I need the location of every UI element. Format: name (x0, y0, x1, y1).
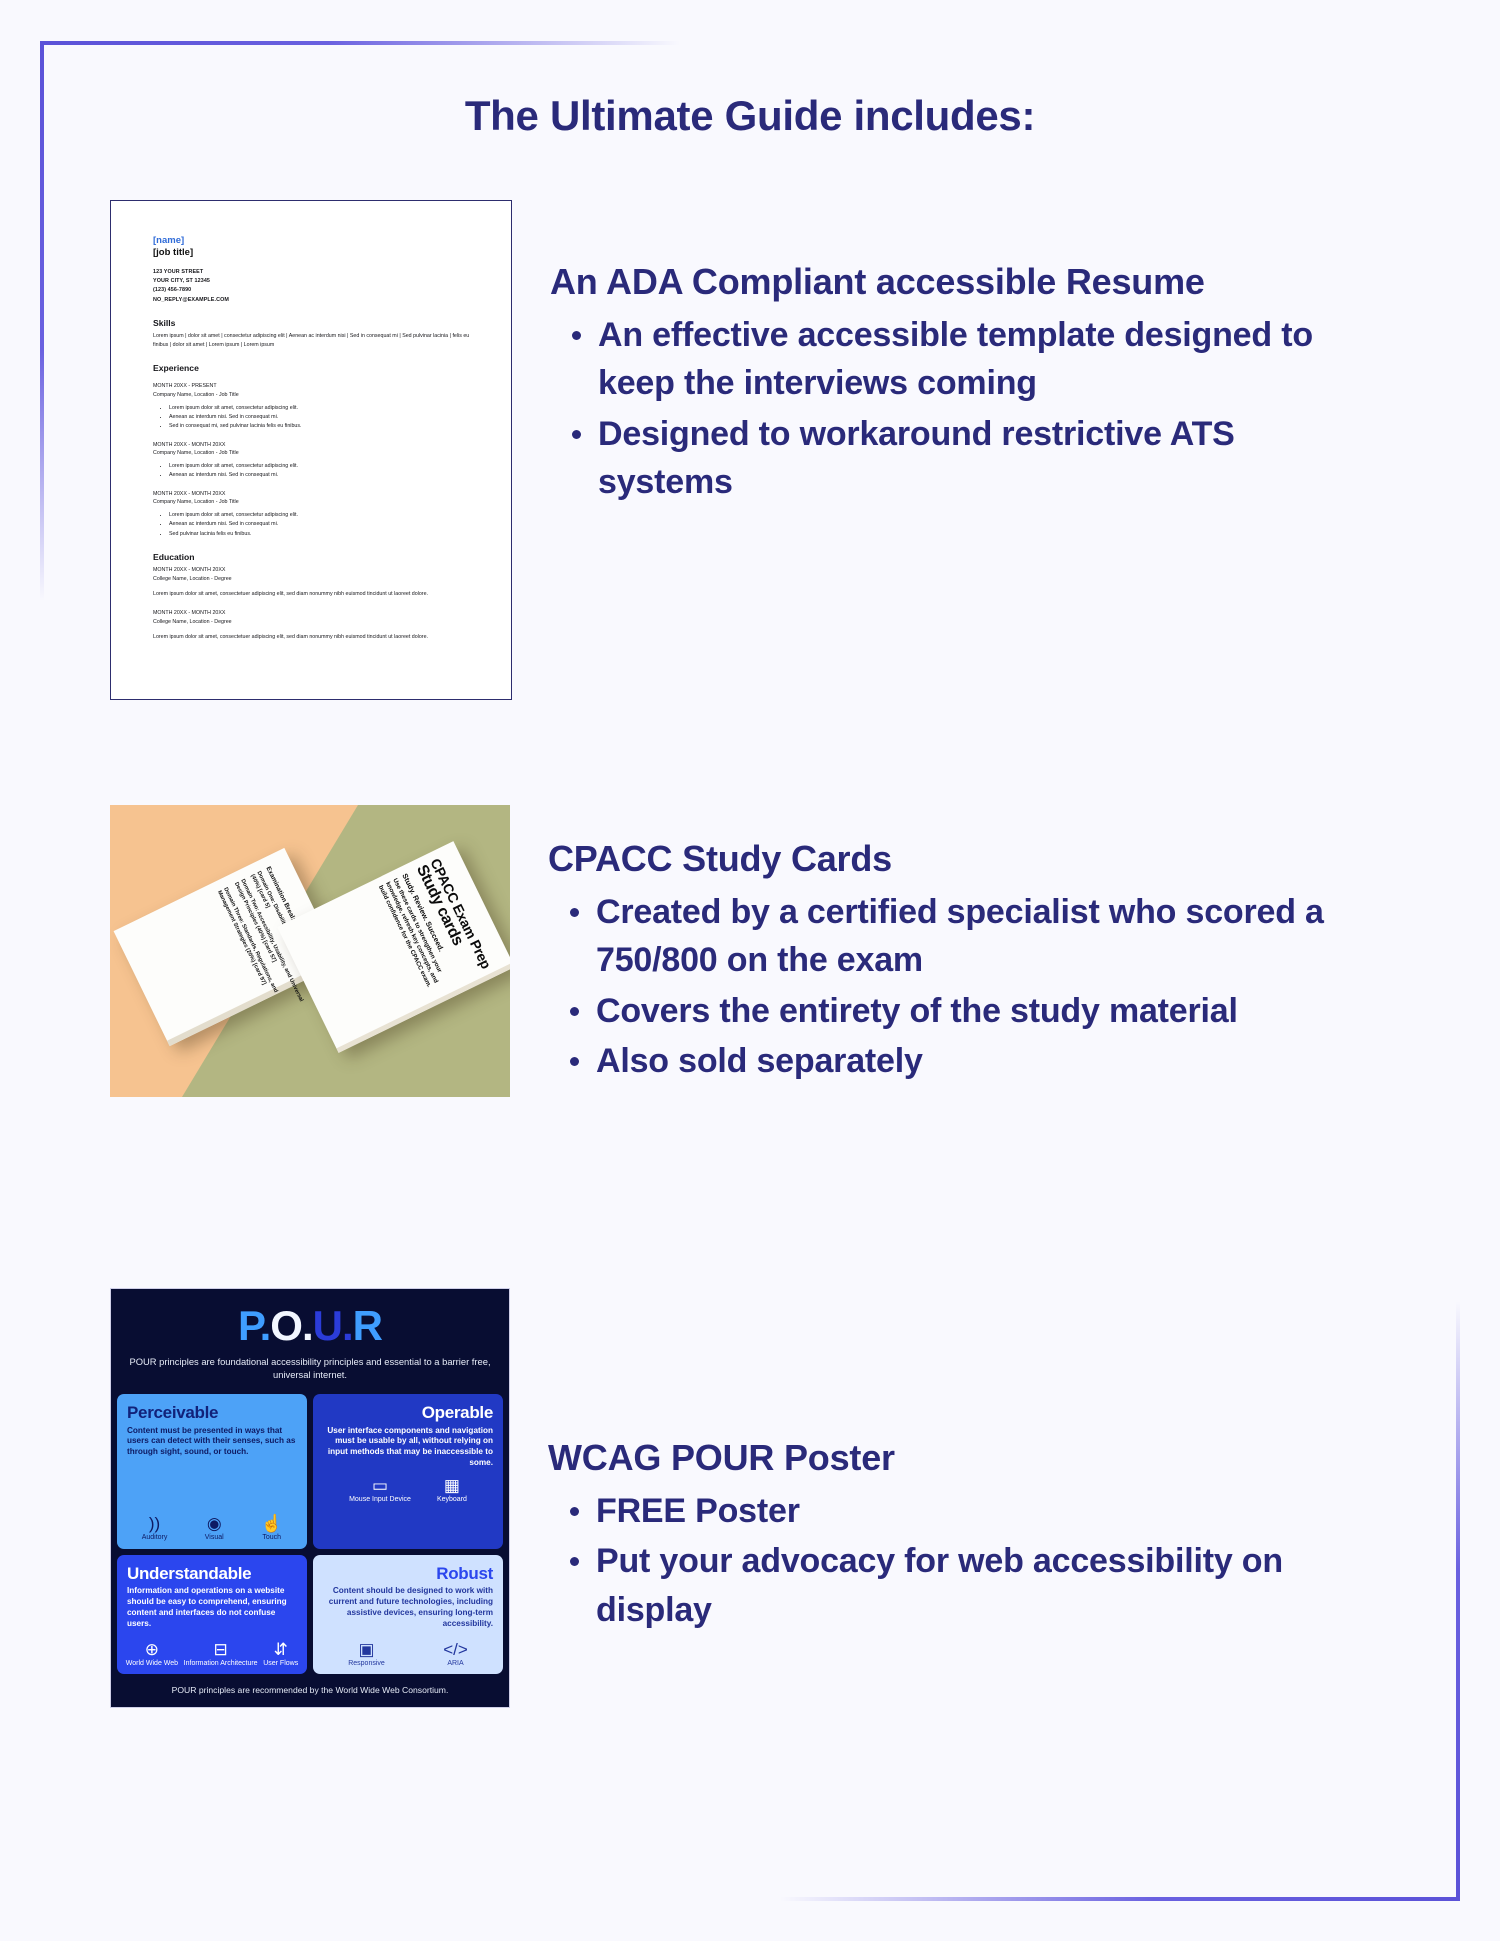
section-bullet-list: An effective accessible template designe… (550, 311, 1340, 506)
resume-copy: An ADA Compliant accessible Resume An ef… (512, 200, 1340, 700)
section-bullet-list: Created by a certified specialist who sc… (548, 888, 1338, 1085)
aria-code-icon: </>ARIA (443, 1641, 468, 1668)
resume-contact-street: 123 YOUR STREET (153, 268, 483, 277)
resume-exp-bullet: Lorem ipsum dolor sit amet, consectetur … (169, 404, 483, 413)
eye-icon: ◉Visual (205, 1515, 224, 1542)
resume-exp-bullet: Sed pulvinar lacinia felis eu finibus. (169, 530, 483, 539)
poster-cell-robust: Robust Content should be designed to wor… (313, 1555, 503, 1674)
section-heading: WCAG POUR Poster (548, 1436, 1338, 1479)
user-flows-icon: ⇵User Flows (263, 1641, 298, 1668)
icon-label: World Wide Web (126, 1660, 178, 1667)
resume-education-heading: Education (153, 552, 483, 562)
resume-exp-company: Company Name, Location - Job Title (153, 498, 483, 507)
poster-header: P.O.U.R POUR principles are foundational… (111, 1289, 509, 1394)
icon-label: Visual (205, 1534, 224, 1541)
resume-exp-dates: MONTH 20XX - MONTH 20XX (153, 490, 483, 499)
pour-logo-letter-p: P. (238, 1302, 270, 1349)
keyboard-icon: ▦Keyboard (437, 1477, 467, 1504)
principle-title: Operable (323, 1404, 493, 1422)
section-bullet: An effective accessible template designe… (550, 311, 1340, 408)
resume-edu-dates: MONTH 20XX - MONTH 20XX (153, 566, 483, 575)
resume-edu-dates: MONTH 20XX - MONTH 20XX (153, 609, 483, 618)
icon-label: Auditory (142, 1534, 168, 1541)
resume-exp-bullet: Lorem ipsum dolor sit amet, consectetur … (169, 462, 483, 471)
section-bullet-list: FREE Poster Put your advocacy for web ac… (548, 1487, 1338, 1634)
section-bullet: FREE Poster (548, 1487, 1338, 1535)
section-cpacc-study-cards: Examination Breal: Domain One: Disabilit… (110, 805, 1338, 1097)
page-title: The Ultimate Guide includes: (0, 92, 1500, 140)
icon-label: ARIA (447, 1660, 463, 1667)
pour-logo: P.O.U.R (121, 1305, 499, 1347)
pour-poster-image: P.O.U.R POUR principles are foundational… (110, 1288, 510, 1708)
resume-job-title: [job title] (153, 247, 483, 259)
resume-exp-bullet: Aenean ac interdum nisi. Sed in consequa… (169, 413, 483, 422)
section-bullet: Covers the entirety of the study materia… (548, 987, 1338, 1035)
resume-experience-heading: Experience (153, 363, 483, 373)
mouse-input-icon: ▭Mouse Input Device (349, 1477, 411, 1504)
poster-cell-perceivable: Perceivable Content must be presented in… (117, 1394, 307, 1549)
information-architecture-icon: ⊟Information Architecture (184, 1641, 258, 1668)
touch-icon: ☝Touch (261, 1515, 282, 1542)
resume-exp-company: Company Name, Location - Job Title (153, 449, 483, 458)
resume-contact-phone: (123) 456-7890 (153, 286, 483, 295)
resume-education-entry: MONTH 20XX - MONTH 20XX College Name, Lo… (153, 566, 483, 600)
globe-icon: ⊕World Wide Web (126, 1641, 178, 1668)
responsive-icon: ▣Responsive (348, 1641, 385, 1668)
resume-contact-block: 123 YOUR STREET YOUR CITY, ST 12345 (123… (153, 268, 483, 305)
resume-skills-text: Lorem ipsum | dolor sit amet | consectet… (153, 332, 483, 351)
poster-footer: POUR principles are recommended by the W… (111, 1674, 509, 1707)
resume-exp-bullets: Lorem ipsum dolor sit amet, consectetur … (169, 511, 483, 539)
study-cards-copy: CPACC Study Cards Created by a certified… (510, 805, 1338, 1097)
pour-logo-letter-u: U. (313, 1302, 353, 1349)
frame-line-right (1456, 1301, 1460, 1901)
principle-body: Information and operations on a website … (127, 1586, 297, 1630)
section-bullet: Put your advocacy for web accessibility … (548, 1537, 1338, 1634)
resume-exp-bullet: Aenean ac interdum nisi. Sed in consequa… (169, 471, 483, 480)
section-heading: CPACC Study Cards (548, 837, 1338, 880)
principle-body: Content must be presented in ways that u… (127, 1426, 297, 1459)
icon-label: Keyboard (437, 1496, 467, 1503)
resume-exp-bullet: Aenean ac interdum nisi. Sed in consequa… (169, 520, 483, 529)
resume-exp-bullets: Lorem ipsum dolor sit amet, consectetur … (169, 404, 483, 432)
principle-title: Robust (323, 1565, 493, 1583)
resume-edu-school: College Name, Location - Degree (153, 618, 483, 627)
icon-label: Touch (262, 1534, 281, 1541)
resume-exp-bullet: Sed in consequat mi, sed pulvinar lacini… (169, 422, 483, 431)
section-wcag-pour-poster: P.O.U.R POUR principles are foundational… (110, 1288, 1338, 1708)
pour-logo-letter-r: R (353, 1302, 382, 1349)
principle-body: Content should be designed to work with … (323, 1586, 493, 1630)
resume-experience-entry: MONTH 20XX - MONTH 20XX Company Name, Lo… (153, 441, 483, 481)
poster-principle-grid: Perceivable Content must be presented in… (111, 1394, 509, 1674)
pour-logo-letter-o: O. (270, 1302, 312, 1349)
auditory-icon: ))Auditory (142, 1515, 168, 1542)
section-ada-resume: [name] [job title] 123 YOUR STREET YOUR … (110, 200, 1340, 700)
resume-document: [name] [job title] 123 YOUR STREET YOUR … (110, 200, 512, 700)
resume-exp-company: Company Name, Location - Job Title (153, 391, 483, 400)
section-bullet: Created by a certified specialist who sc… (548, 888, 1338, 985)
resume-education-entry: MONTH 20XX - MONTH 20XX College Name, Lo… (153, 609, 483, 643)
resume-experience-entry: MONTH 20XX - PRESENT Company Name, Locat… (153, 382, 483, 431)
resume-skills-heading: Skills (153, 318, 483, 328)
resume-contact-email: NO_REPLY@EXAMPLE.COM (153, 296, 483, 305)
frame-line-top (40, 41, 680, 45)
frame-line-bottom (780, 1897, 1460, 1901)
section-bullet: Designed to workaround restrictive ATS s… (550, 410, 1340, 507)
section-heading: An ADA Compliant accessible Resume (550, 260, 1340, 303)
resume-name: [name] (153, 235, 483, 247)
icon-label: Mouse Input Device (349, 1496, 411, 1503)
resume-exp-bullets: Lorem ipsum dolor sit amet, consectetur … (169, 462, 483, 481)
poster-cell-operable: Operable User interface components and n… (313, 1394, 503, 1549)
icon-label: User Flows (263, 1660, 298, 1667)
principle-body: User interface components and navigation… (323, 1426, 493, 1470)
resume-exp-dates: MONTH 20XX - PRESENT (153, 382, 483, 391)
resume-exp-bullet: Lorem ipsum dolor sit amet, consectetur … (169, 511, 483, 520)
icon-label: Information Architecture (184, 1660, 258, 1667)
study-cards-photo: Examination Breal: Domain One: Disabilit… (110, 805, 510, 1097)
resume-exp-dates: MONTH 20XX - MONTH 20XX (153, 441, 483, 450)
icon-label: Responsive (348, 1660, 385, 1667)
poster-subtitle: POUR principles are foundational accessi… (121, 1355, 499, 1382)
poster-cell-understandable: Understandable Information and operation… (117, 1555, 307, 1674)
resume-contact-city: YOUR CITY, ST 12345 (153, 277, 483, 286)
resume-edu-text: Lorem ipsum dolor sit amet, consectetuer… (153, 633, 483, 643)
resume-edu-text: Lorem ipsum dolor sit amet, consectetuer… (153, 590, 483, 600)
principle-title: Perceivable (127, 1404, 297, 1422)
poster-copy: WCAG POUR Poster FREE Poster Put your ad… (510, 1288, 1338, 1708)
resume-edu-school: College Name, Location - Degree (153, 575, 483, 584)
principle-title: Understandable (127, 1565, 297, 1583)
resume-preview-image: [name] [job title] 123 YOUR STREET YOUR … (110, 200, 512, 700)
resume-experience-entry: MONTH 20XX - MONTH 20XX Company Name, Lo… (153, 490, 483, 539)
section-bullet: Also sold separately (548, 1037, 1338, 1085)
